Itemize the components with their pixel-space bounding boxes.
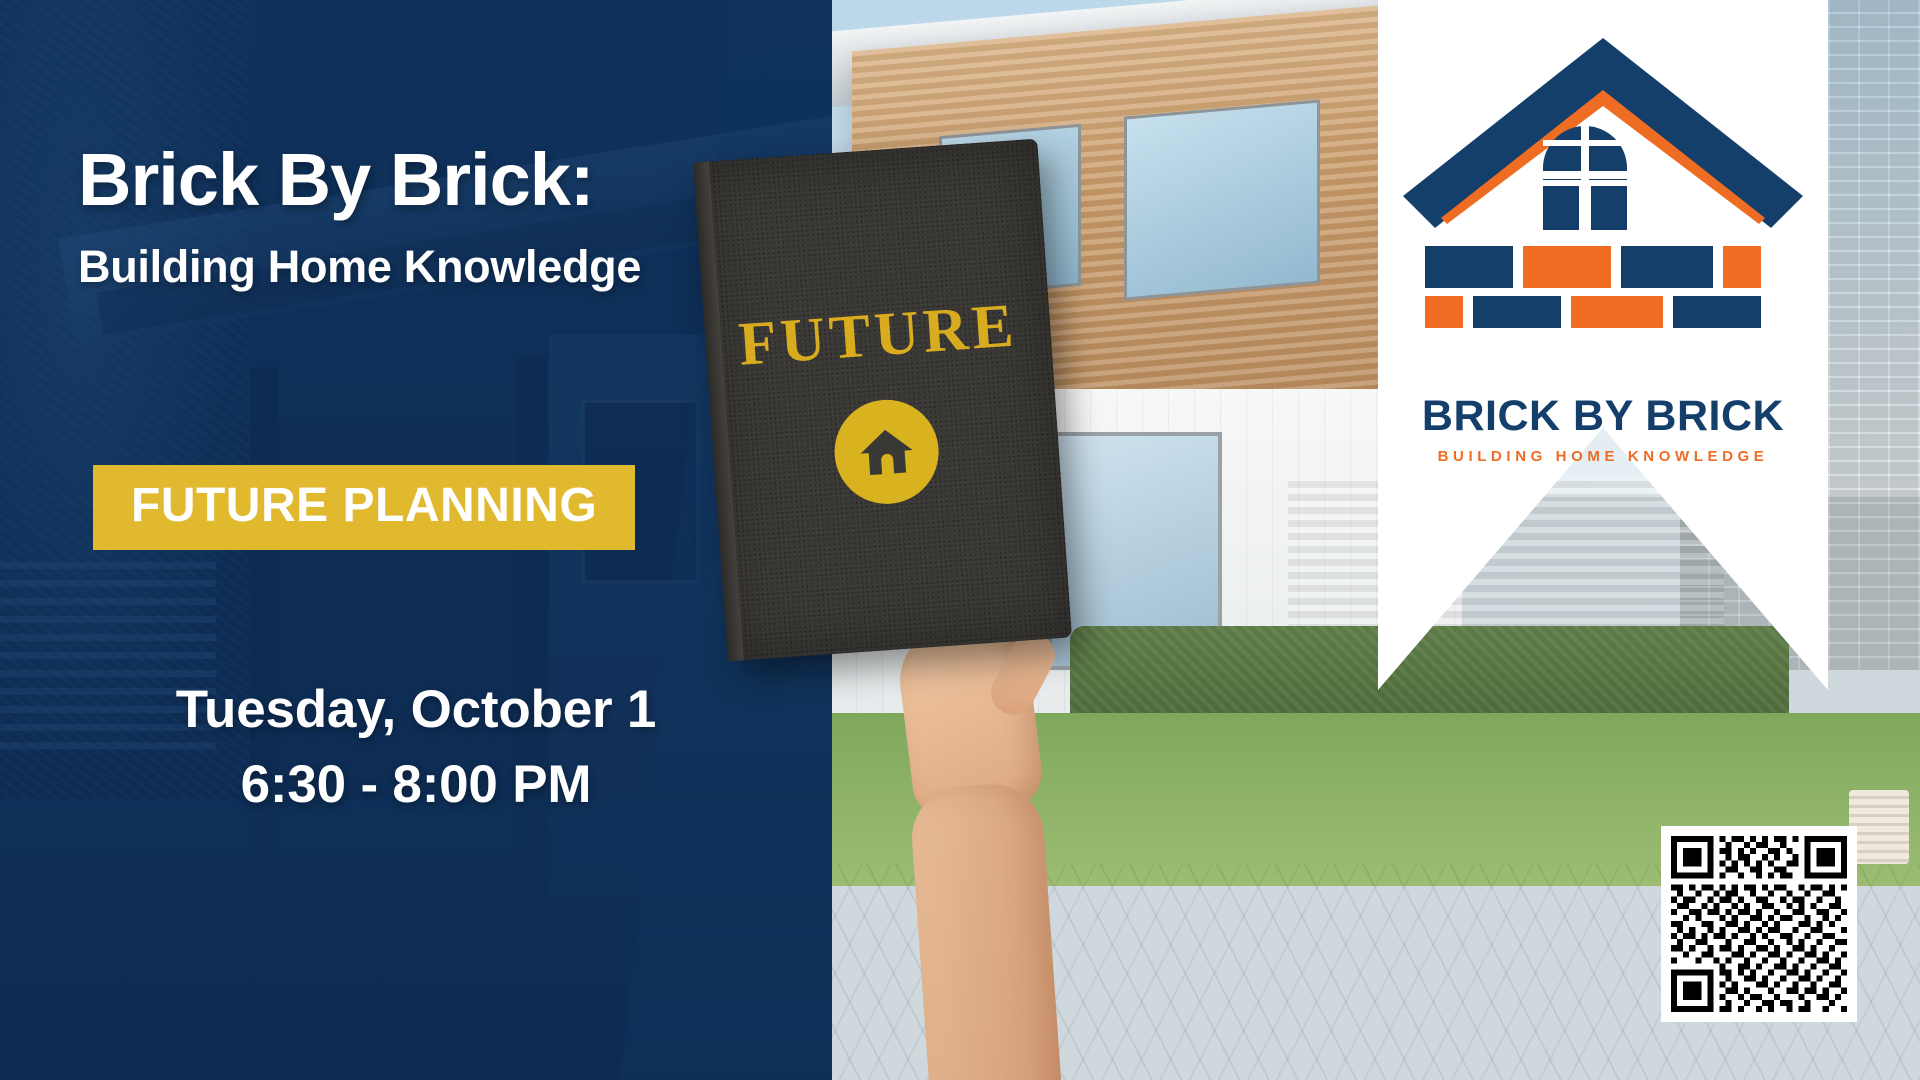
brick <box>1723 246 1761 288</box>
brand-wordmark: BRICK BY BRICK <box>1378 392 1828 441</box>
brick <box>1425 246 1513 288</box>
brand-tagline: BUILDING HOME KNOWLEDGE <box>1378 448 1828 465</box>
window-pane <box>1543 186 1579 230</box>
topic-badge-label: FUTURE PLANNING <box>131 479 597 532</box>
book-spine <box>693 162 744 662</box>
patio-chair <box>1849 790 1909 864</box>
brick <box>1523 246 1611 288</box>
event-time: 6:30 - 8:00 PM <box>0 747 832 822</box>
future-book: FUTURE <box>693 139 1072 662</box>
window-pane <box>1591 186 1627 230</box>
qr-code-svg <box>1671 836 1847 1012</box>
page-subtitle: Building Home Knowledge <box>78 243 798 290</box>
logo-svg <box>1393 28 1813 328</box>
brick <box>1621 246 1713 288</box>
book-house-badge <box>831 396 942 507</box>
topic-badge: FUTURE PLANNING <box>93 465 635 550</box>
event-banner: Brick By Brick: Building Home Knowledge … <box>0 0 1920 1080</box>
page-title: Brick By Brick: <box>78 143 778 217</box>
brick <box>1571 296 1663 328</box>
hand-holding-book: FUTURE <box>700 140 1120 700</box>
house-icon <box>856 425 915 479</box>
upper-window-right <box>1124 99 1320 300</box>
brick <box>1473 296 1561 328</box>
book-cover-title: FUTURE <box>703 288 1052 383</box>
forearm <box>909 781 1070 1080</box>
brick-by-brick-logo-icon <box>1393 28 1813 328</box>
brick <box>1673 296 1761 328</box>
qr-code[interactable] <box>1661 826 1857 1022</box>
brick <box>1425 296 1463 328</box>
